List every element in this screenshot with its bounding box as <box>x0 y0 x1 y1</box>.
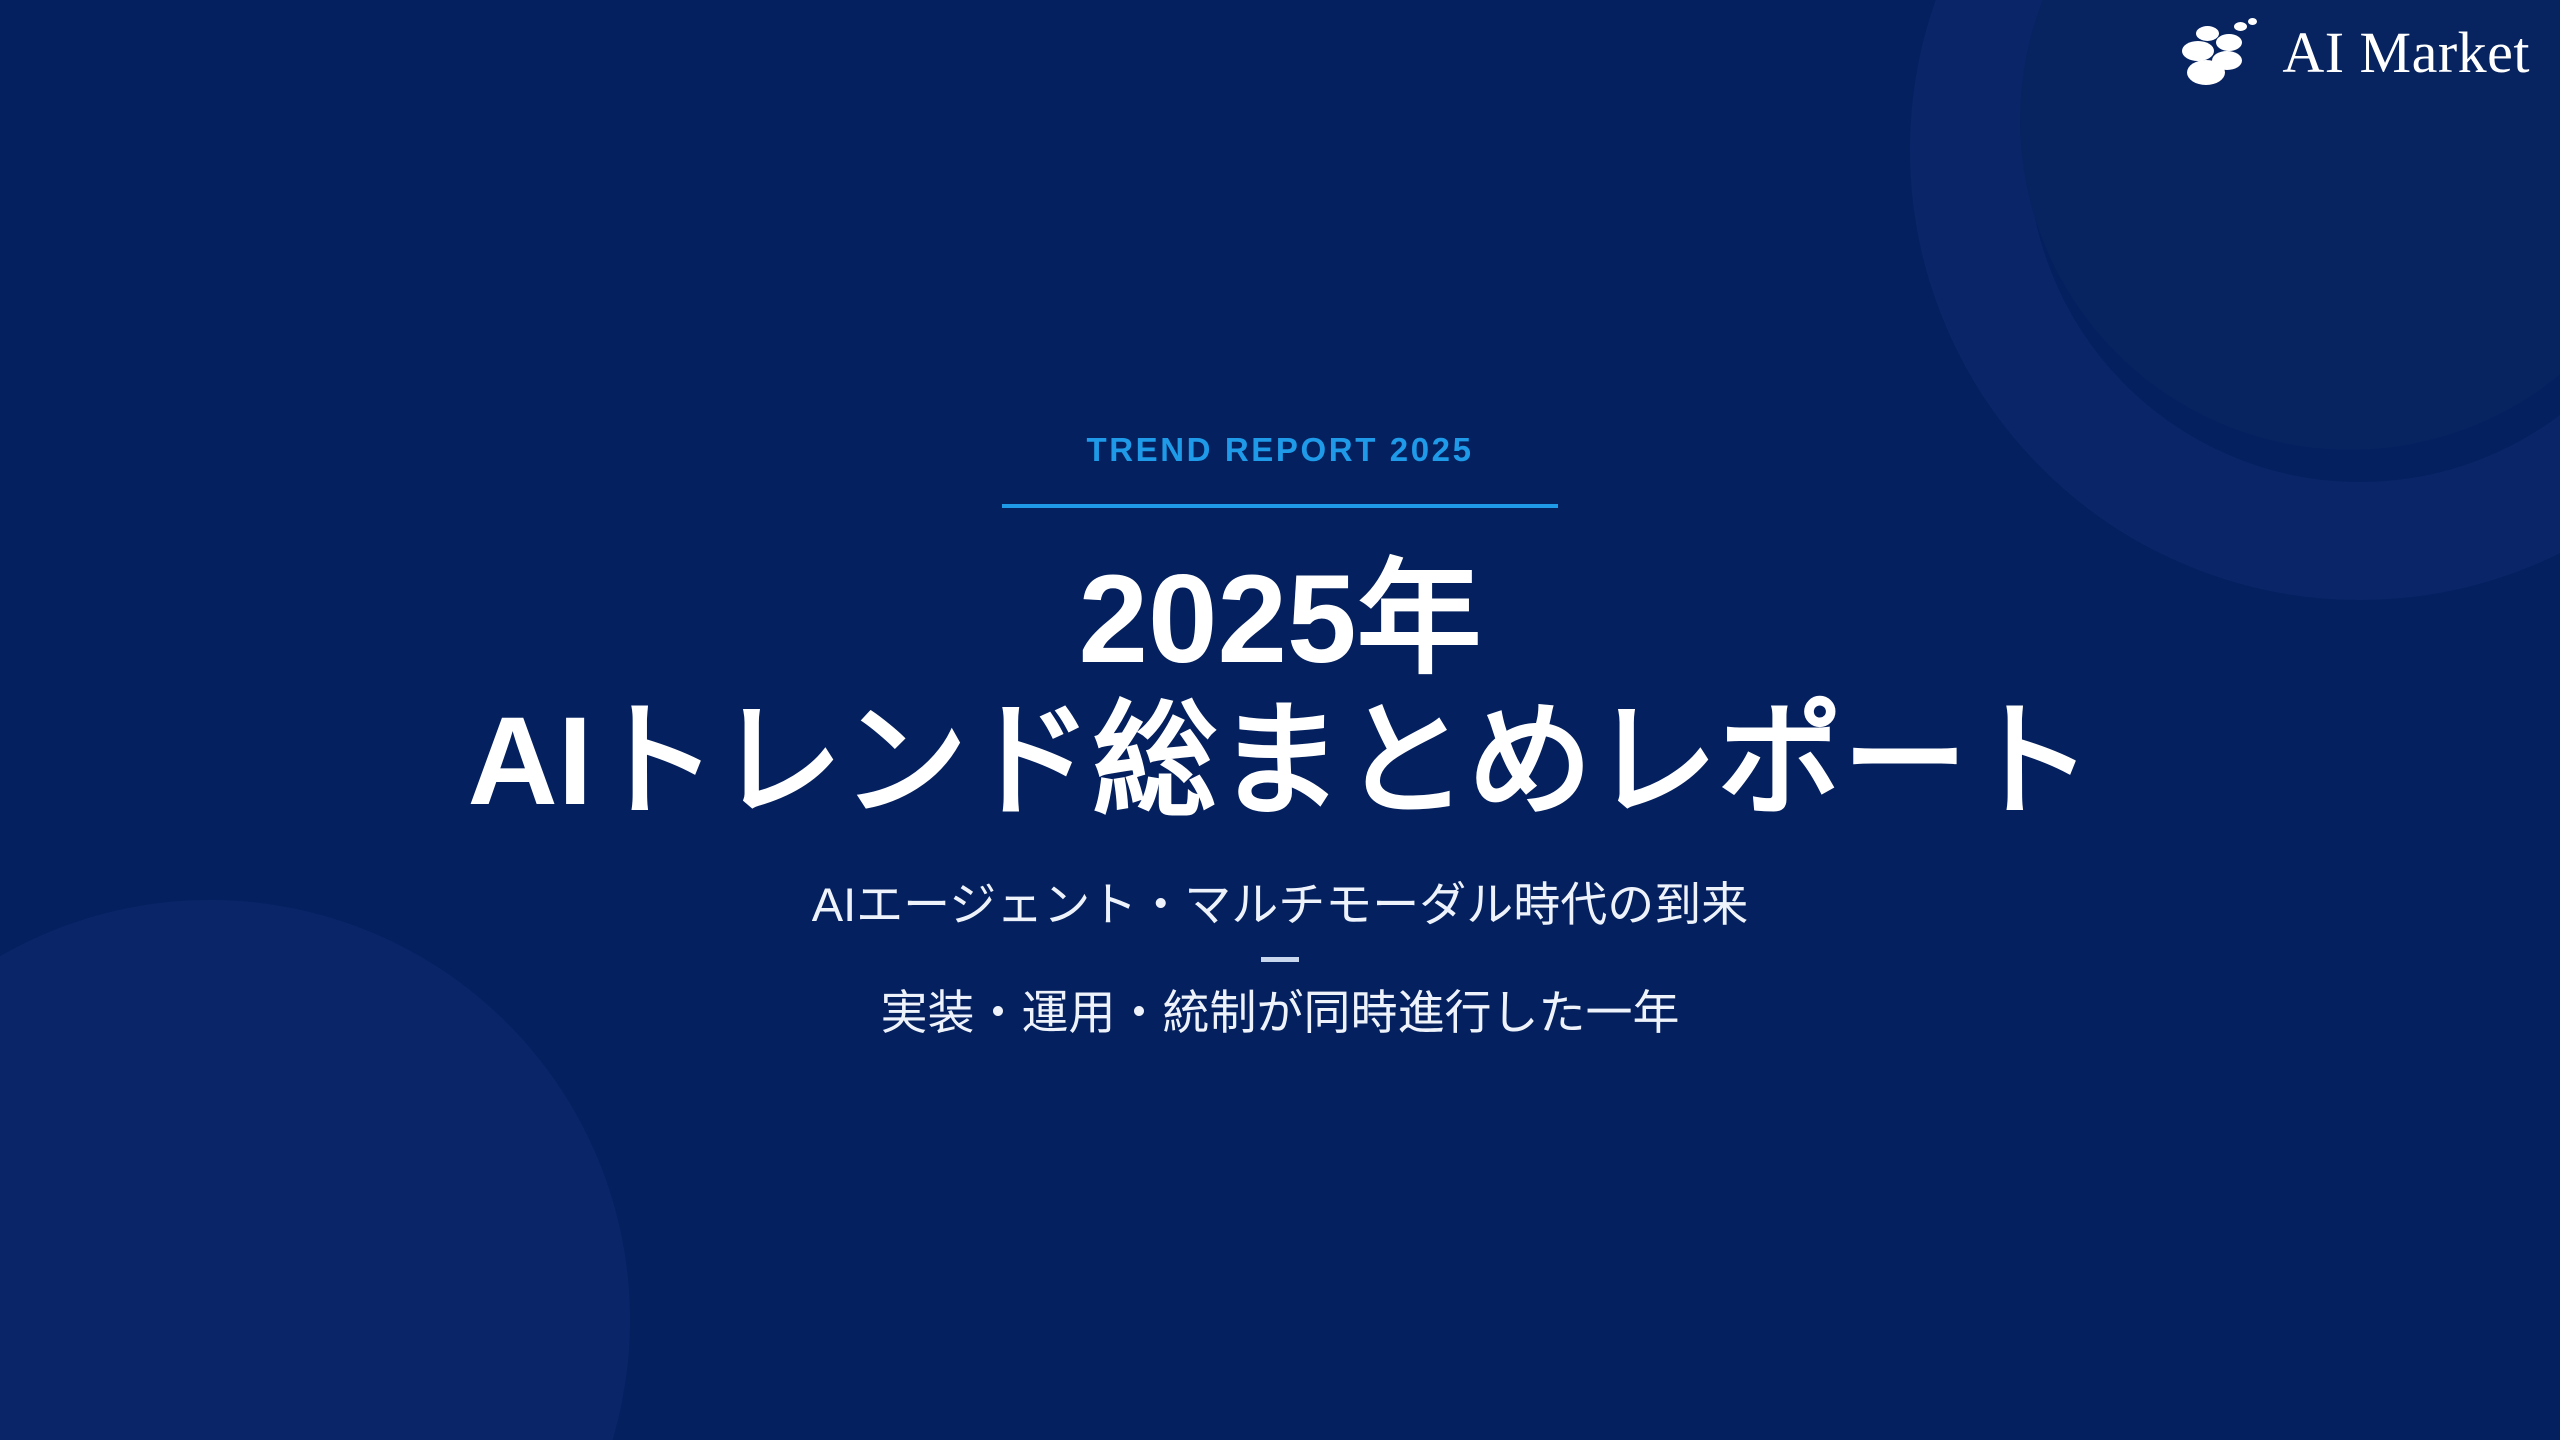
hero-content: TREND REPORT 2025 2025年 AIトレンド総まとめレポート A… <box>0 0 2560 1440</box>
subtitle-primary: AIエージェント・マルチモーダル時代の到来 <box>812 876 1748 935</box>
subtitle-divider <box>1261 957 1299 962</box>
eyebrow-label: TREND REPORT 2025 <box>1086 433 1473 466</box>
brand-name: AI Market <box>2282 24 2530 82</box>
page-title-line-2: AIトレンド総まとめレポート <box>468 692 2093 832</box>
subtitle-secondary: 実装・運用・統制が同時進行した一年 <box>881 984 1680 1043</box>
eyebrow-divider <box>1002 504 1558 508</box>
title-slide: AI Market TREND REPORT 2025 2025年 AIトレンド… <box>0 0 2560 1440</box>
brand-logo[interactable]: AI Market <box>2182 18 2530 88</box>
page-title-line-1: 2025年 <box>1078 550 1481 690</box>
dots-trail-logo-icon <box>2182 18 2266 88</box>
